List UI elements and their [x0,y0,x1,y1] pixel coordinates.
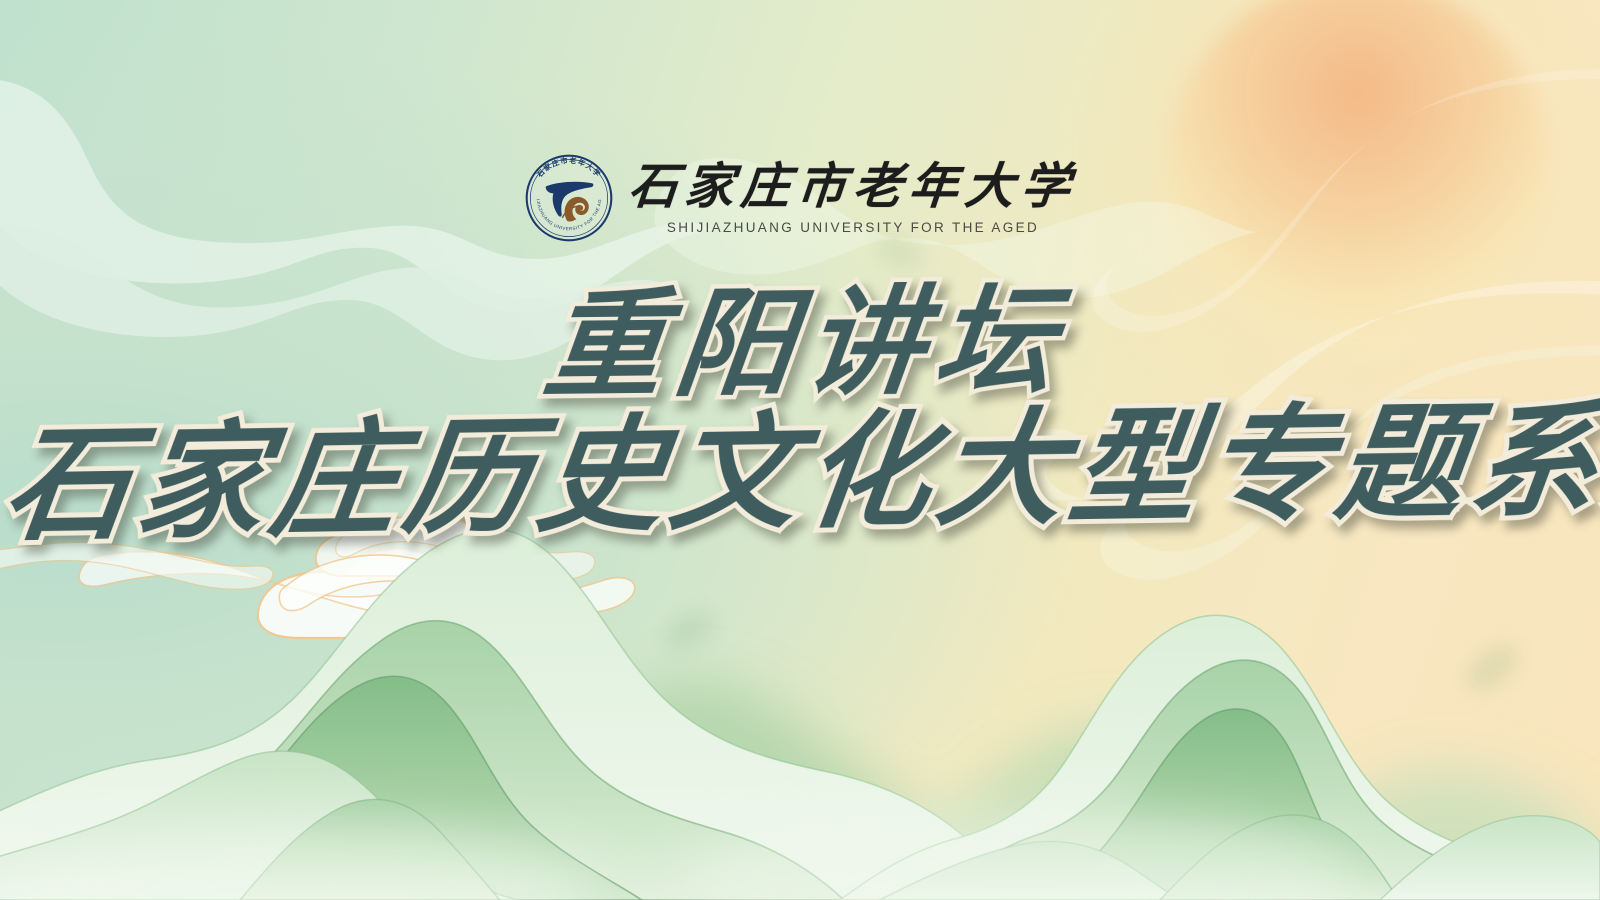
wordmark-chinese: 石家庄市老年大学 [627,162,1079,211]
wordmark-english: SHIJIAZHUANG UNIVERSITY FOR THE AGED [667,220,1039,235]
poster-title-main: 重阳讲坛 [0,274,1600,416]
brand-lockup: 石家庄市老年大学 SHIJIAZHUANG UNIVERSITY FOR THE… [0,152,1600,244]
university-wordmark: 石家庄市老年大学 SHIJIAZHUANG UNIVERSITY FOR THE… [629,162,1077,235]
poster-title-subtitle: 石家庄历史文化大型专题系列讲座 [0,395,1600,554]
university-emblem-icon: 石家庄市老年大学 SHIJIAZHUANG UNIVERSITY FOR THE… [523,152,615,244]
poster-canvas: 石家庄市老年大学 SHIJIAZHUANG UNIVERSITY FOR THE… [0,0,1600,900]
